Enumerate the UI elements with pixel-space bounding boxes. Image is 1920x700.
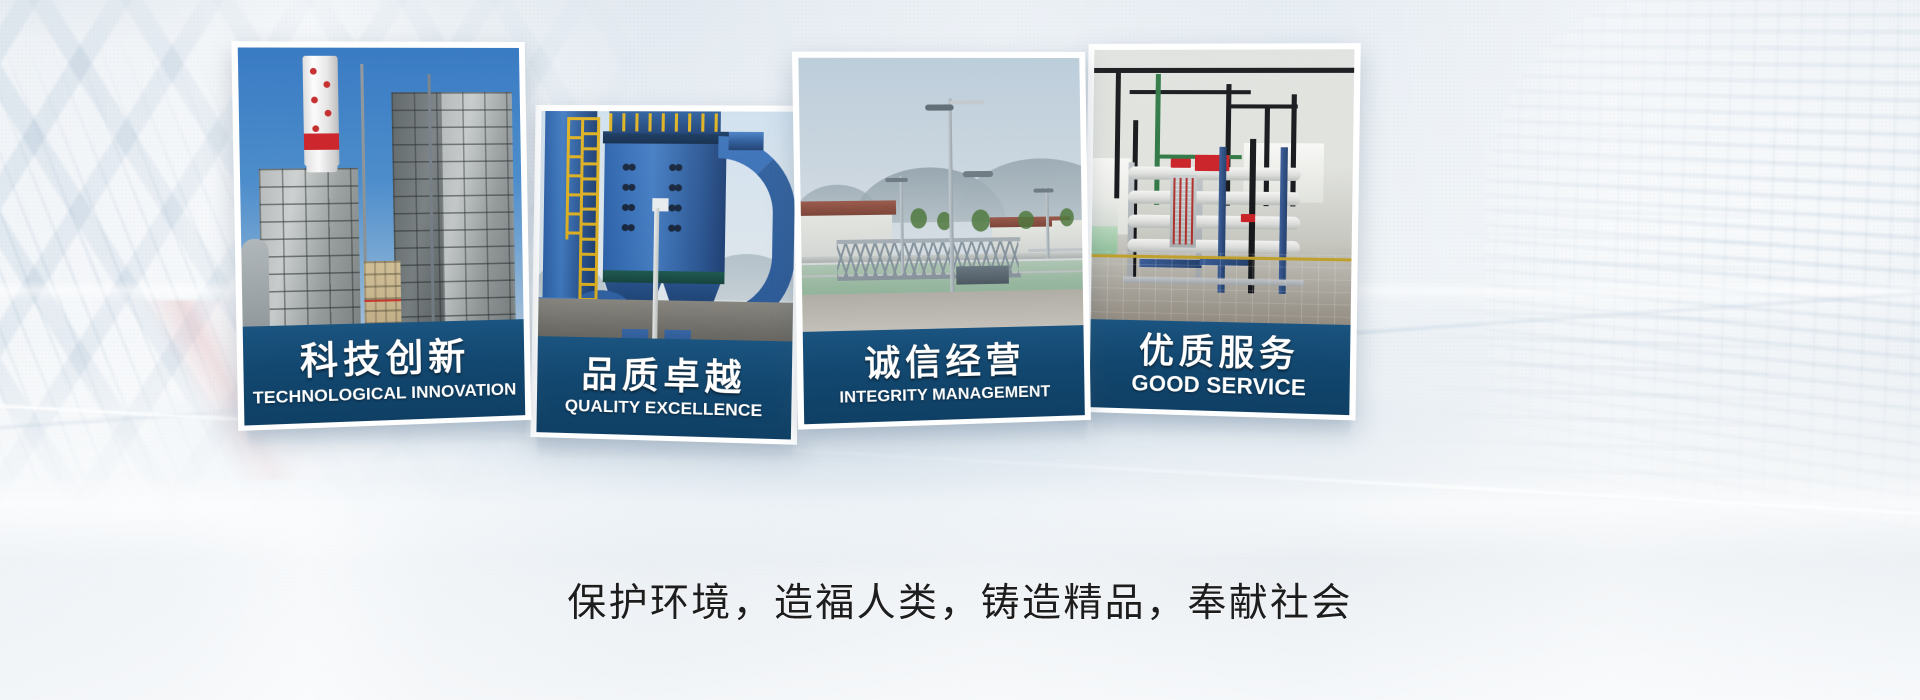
card-title-cn: 优质服务 — [1090, 332, 1350, 376]
card-title-en: QUALITY EXCELLENCE — [537, 396, 792, 422]
wastewater-treatment-plant-photo — [798, 58, 1083, 332]
feature-card-good-service[interactable]: 优质服务 GOOD SERVICE — [1083, 43, 1360, 420]
banner-tagline: 保护环境，造福人类，铸造精品，奉献社会 — [0, 572, 1920, 628]
card-label-band: 科技创新 TECHNOLOGICAL INNOVATION — [243, 319, 526, 425]
industrial-stacks-photo — [238, 47, 524, 326]
feature-card-integrity-management[interactable]: 诚信经营 INTEGRITY MANAGEMENT — [792, 52, 1091, 430]
card-title-en: INTEGRITY MANAGEMENT — [804, 382, 1085, 408]
card-label-band: 优质服务 GOOD SERVICE — [1089, 319, 1350, 415]
promo-banner: 科技创新 TECHNOLOGICAL INNOVATION — [0, 0, 1920, 700]
card-title-en: TECHNOLOGICAL INNOVATION — [244, 380, 525, 409]
card-title-cn: 品质卓越 — [537, 354, 792, 398]
feature-card-technological-innovation[interactable]: 科技创新 TECHNOLOGICAL INNOVATION — [231, 41, 531, 431]
blue-dust-collector-photo — [538, 111, 796, 341]
card-label-band: 品质卓越 QUALITY EXCELLENCE — [536, 336, 792, 439]
feature-card-quality-excellence[interactable]: 品质卓越 QUALITY EXCELLENCE — [530, 105, 802, 445]
card-title-cn: 诚信经营 — [803, 341, 1084, 386]
card-title-cn: 科技创新 — [243, 336, 525, 384]
reverse-osmosis-skid-photo — [1091, 49, 1355, 325]
card-label-band: 诚信经营 INTEGRITY MANAGEMENT — [803, 325, 1085, 424]
